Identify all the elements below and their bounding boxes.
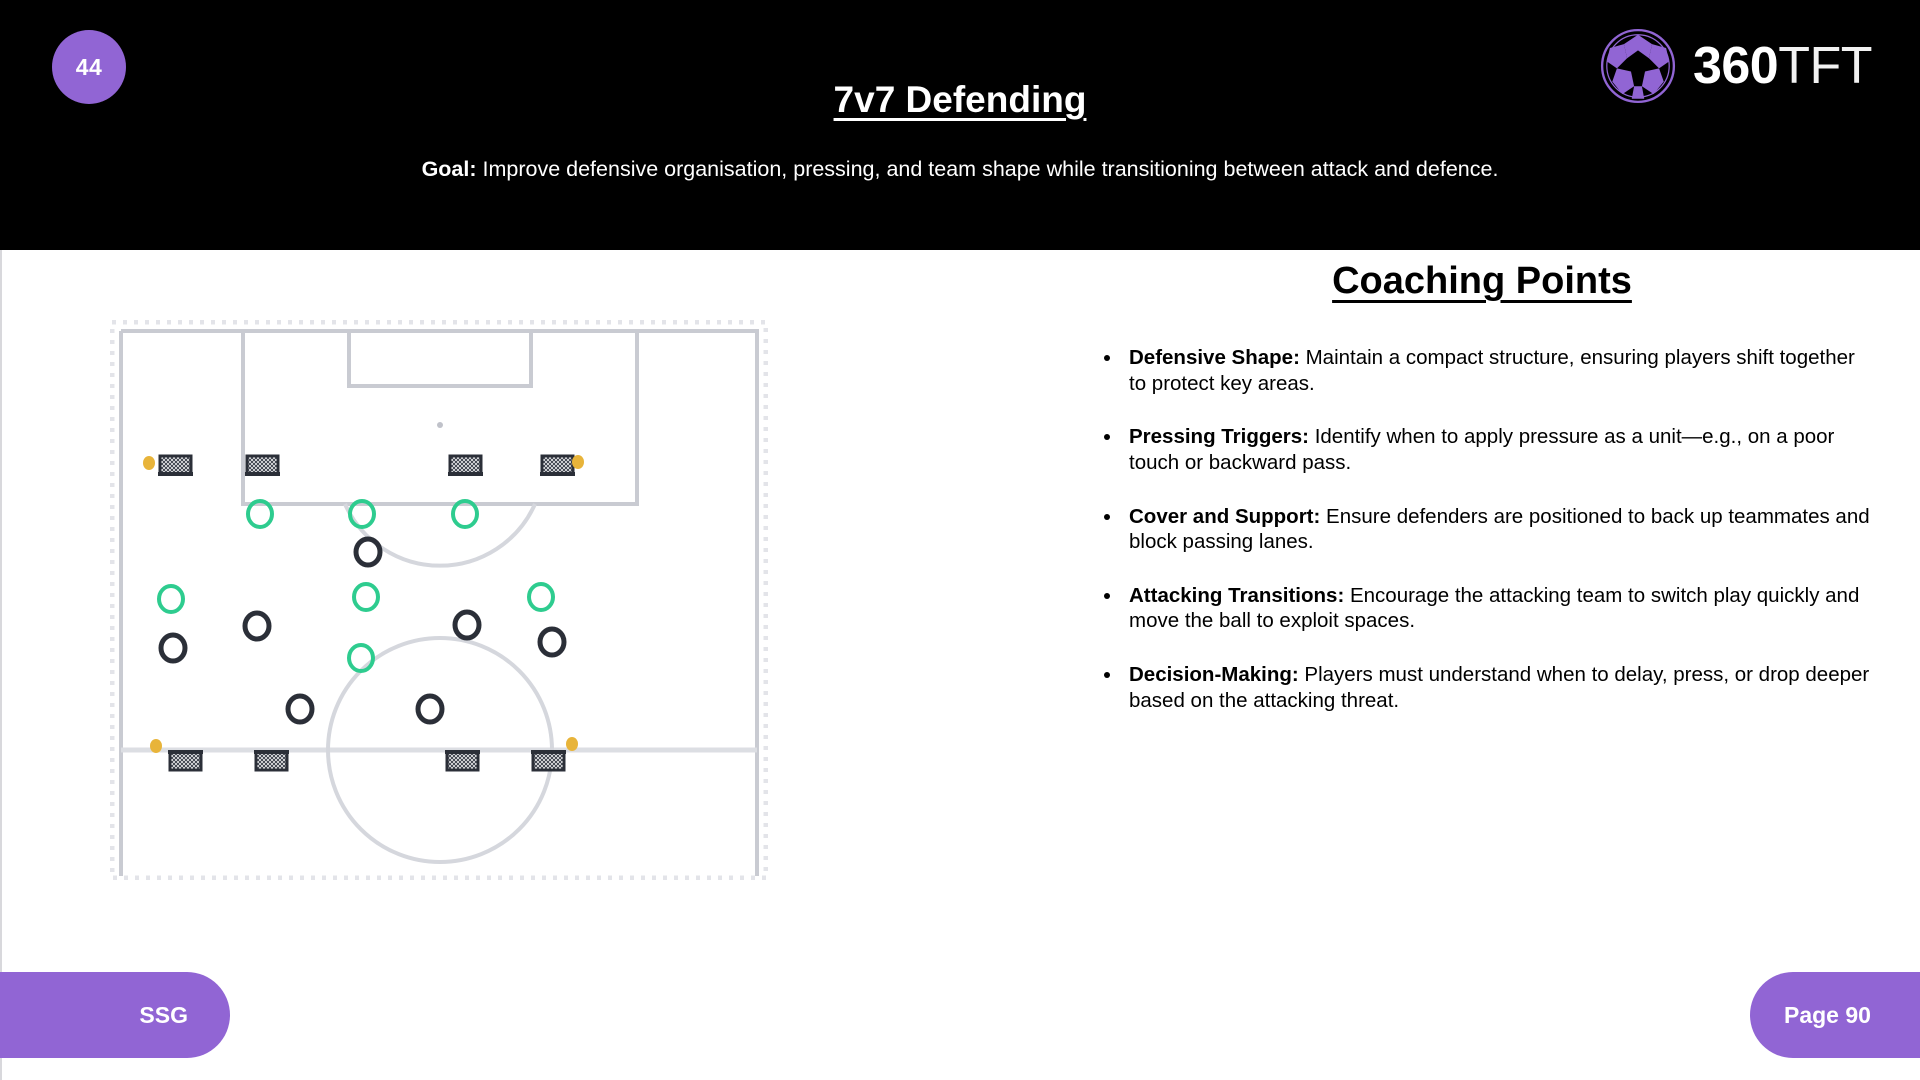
content-area: Coaching Points Defensive Shape: Maintai… — [0, 250, 1920, 1080]
session-category-badge: SSG — [0, 972, 230, 1058]
mini-goal — [158, 456, 193, 476]
pitch-diagram — [110, 320, 768, 880]
coaching-points-panel: Coaching Points Defensive Shape: Maintai… — [1087, 250, 1877, 741]
coaching-points-title: Coaching Points — [1087, 260, 1877, 303]
mini-goal — [445, 750, 480, 770]
mini-goal — [245, 456, 280, 476]
coaching-point-item: Pressing Triggers: Identify when to appl… — [1123, 424, 1877, 475]
slide-page: 44 7v7 Defending Goal: Improve defensive… — [0, 0, 1920, 1080]
coaching-point-term: Pressing Triggers: — [1129, 425, 1309, 448]
page-number-label: Page 90 — [1784, 1002, 1871, 1029]
coaching-points-list: Defensive Shape: Maintain a compact stru… — [1087, 345, 1877, 713]
mini-goal — [254, 750, 289, 770]
goal-text: Improve defensive organisation, pressing… — [477, 157, 1499, 181]
coaching-point-term: Decision-Making: — [1129, 663, 1299, 686]
cone-marker — [566, 737, 578, 751]
brand-primary: 360 — [1693, 37, 1778, 95]
coaching-point-item: Decision-Making: Players must understand… — [1123, 662, 1877, 713]
coaching-point-term: Defensive Shape: — [1129, 346, 1300, 369]
brand-logo: 360TFT — [1599, 26, 1872, 106]
cone-marker — [143, 456, 155, 470]
brand-secondary: TFT — [1778, 37, 1872, 95]
mini-goal — [540, 456, 575, 476]
cone-marker — [572, 455, 584, 469]
pitch-svg — [110, 320, 768, 880]
brand-wordmark: 360TFT — [1693, 40, 1872, 92]
soccer-ball-icon — [1599, 27, 1677, 105]
coaching-point-term: Cover and Support: — [1129, 505, 1320, 528]
coaching-point-term: Attacking Transitions: — [1129, 584, 1344, 607]
session-category-label: SSG — [139, 1002, 188, 1029]
coaching-point-item: Cover and Support: Ensure defenders are … — [1123, 504, 1877, 555]
penalty-spot — [437, 422, 443, 428]
header-bar: 44 7v7 Defending Goal: Improve defensive… — [0, 0, 1920, 250]
coaching-point-item: Attacking Transitions: Encourage the att… — [1123, 583, 1877, 634]
coaching-point-item: Defensive Shape: Maintain a compact stru… — [1123, 345, 1877, 396]
goal-statement: Goal: Improve defensive organisation, pr… — [0, 157, 1920, 182]
mini-goal — [531, 750, 566, 770]
cone-marker — [150, 739, 162, 753]
page-number-badge: Page 90 — [1750, 972, 1920, 1058]
session-number-label: 44 — [76, 54, 103, 81]
mini-goal — [168, 750, 203, 770]
goal-label: Goal: — [422, 157, 477, 181]
mini-goal — [448, 456, 483, 476]
pitch-surface — [110, 320, 768, 880]
